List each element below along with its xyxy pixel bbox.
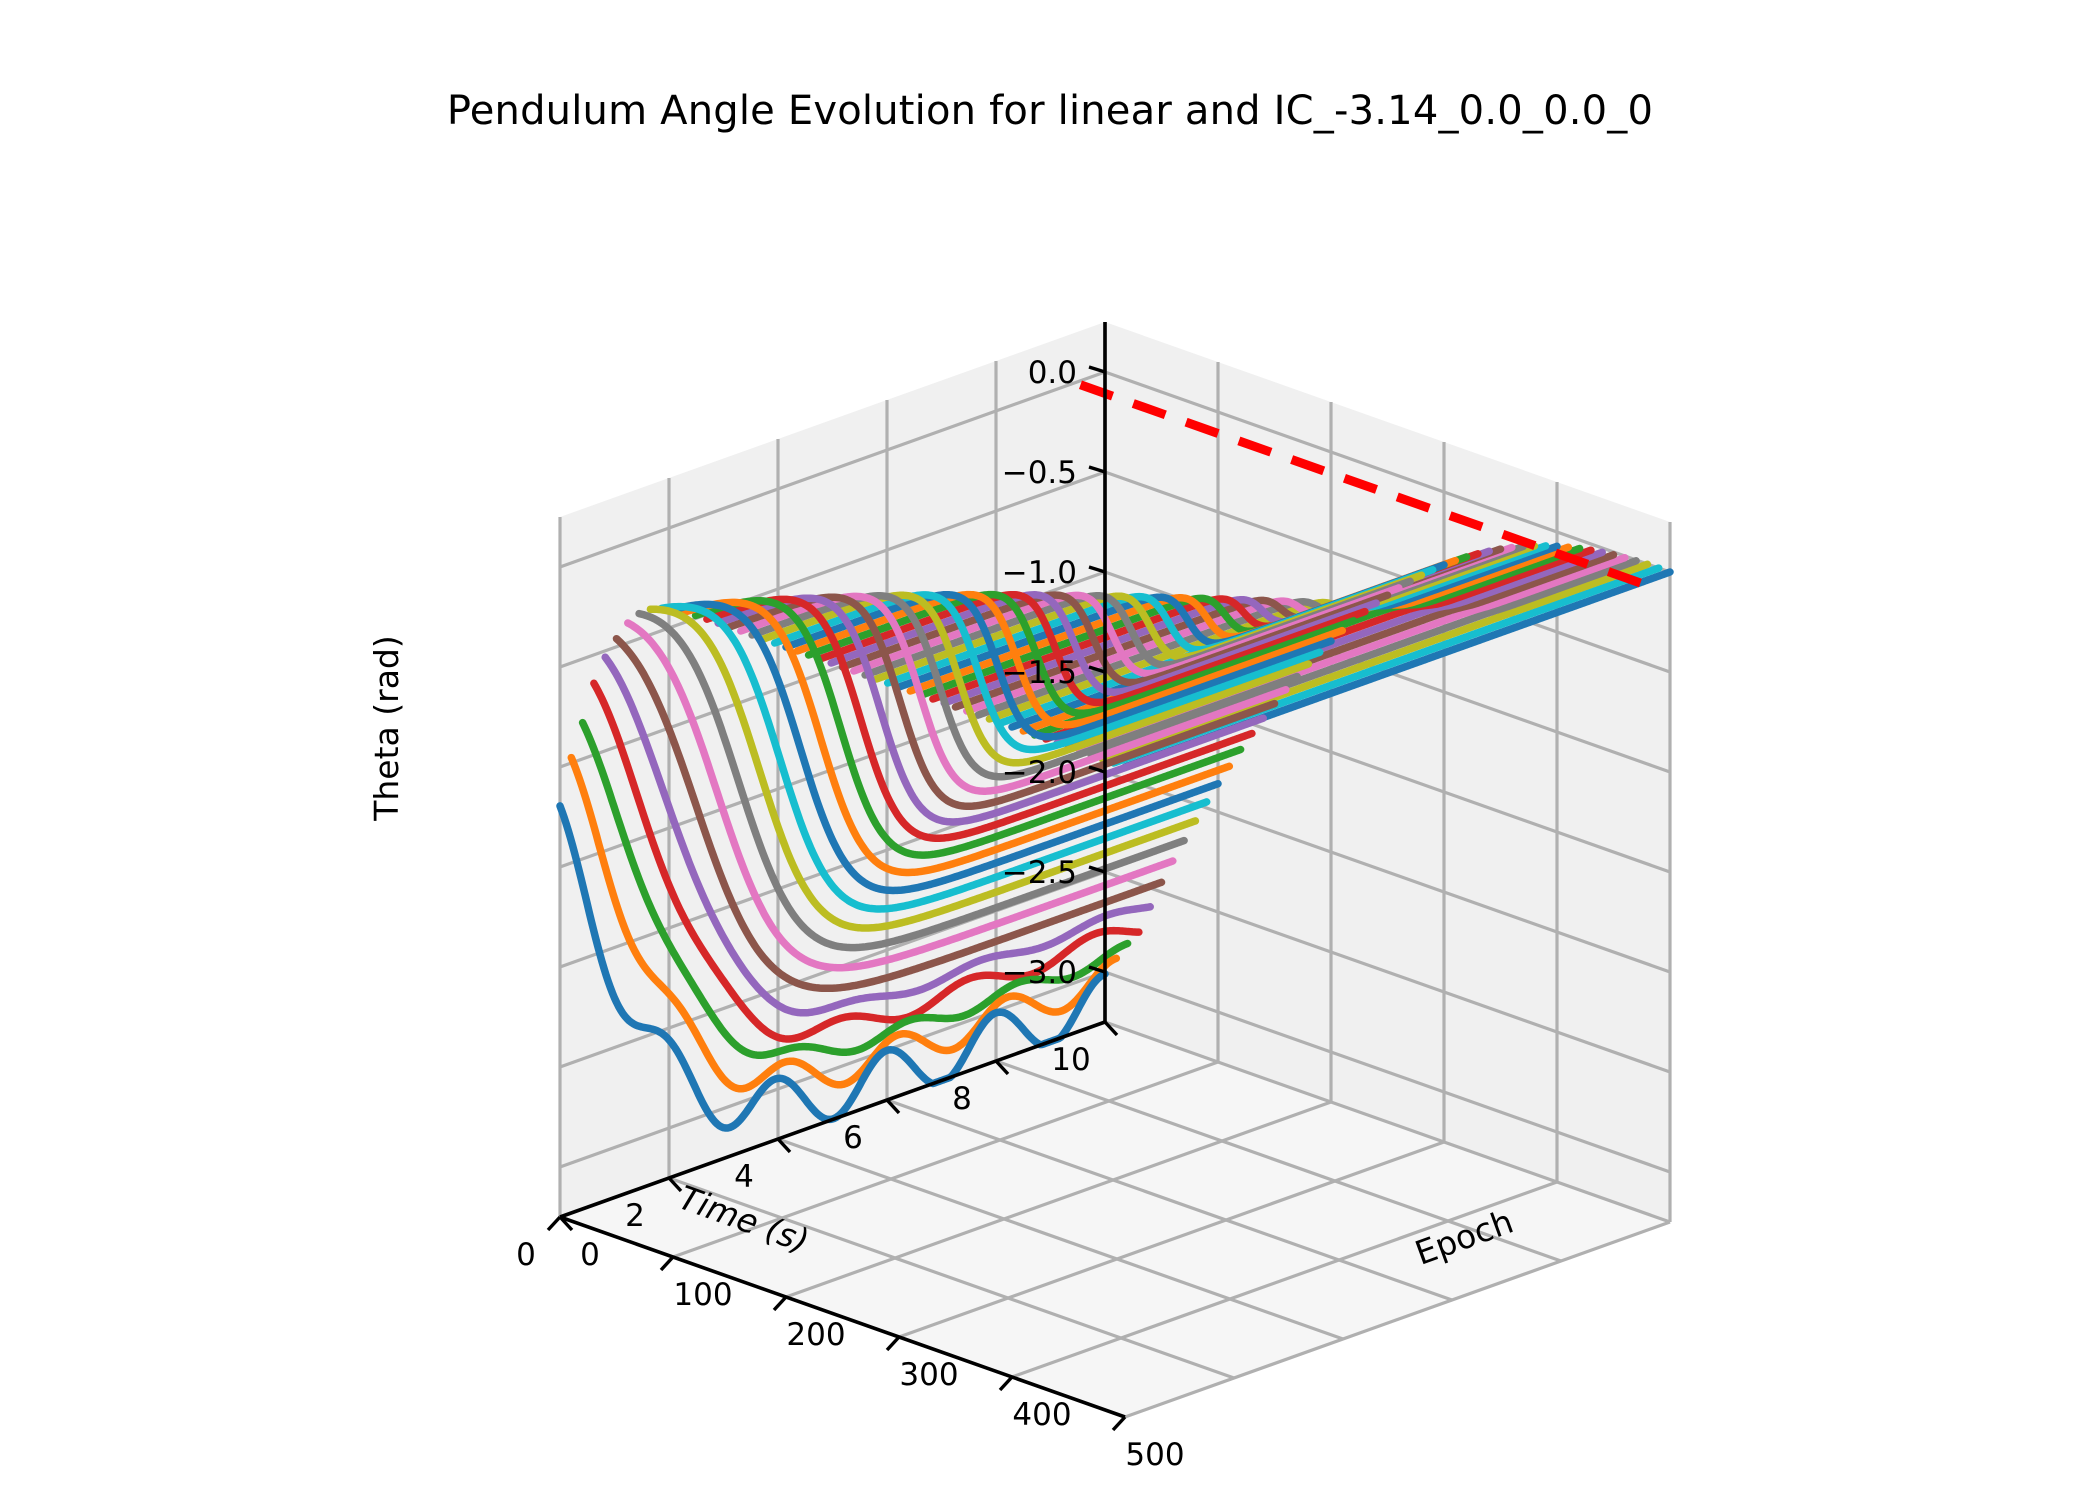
y-tick-label: 200 bbox=[786, 1317, 845, 1353]
y-tick-label: 300 bbox=[899, 1357, 958, 1393]
z-tick-label: −1.0 bbox=[1002, 555, 1077, 591]
z-tick-label: −2.0 bbox=[1002, 755, 1077, 791]
x-tick-label: 2 bbox=[625, 1198, 645, 1234]
pendulum-3d-plot: 0.0−0.5−1.0−1.5−2.0−2.5−3.01086420010020… bbox=[0, 0, 2100, 1500]
z-tick-label: −3.0 bbox=[1002, 955, 1077, 991]
z-tick-label: −1.5 bbox=[1002, 655, 1077, 691]
z-axis-title: Theta (rad) bbox=[367, 635, 406, 822]
y-tick-label: 500 bbox=[1125, 1437, 1184, 1473]
z-tick-label: 0.0 bbox=[1028, 355, 1077, 391]
x-tick-label: 8 bbox=[952, 1081, 972, 1117]
z-tick-label: −0.5 bbox=[1002, 455, 1077, 491]
z-tick-label: −2.5 bbox=[1002, 855, 1077, 891]
x-tick-label: 10 bbox=[1051, 1042, 1090, 1078]
y-tick-label: 100 bbox=[673, 1277, 732, 1313]
figure-canvas: Pendulum Angle Evolution for linear and … bbox=[0, 0, 2100, 1500]
x-tick-label: 6 bbox=[843, 1120, 863, 1156]
y-tick-label: 400 bbox=[1012, 1397, 1071, 1433]
axes-panes bbox=[560, 322, 1670, 1417]
x-tick-label: 0 bbox=[516, 1237, 536, 1273]
x-tick-label: 4 bbox=[734, 1159, 754, 1195]
y-tick-label: 0 bbox=[580, 1237, 600, 1273]
